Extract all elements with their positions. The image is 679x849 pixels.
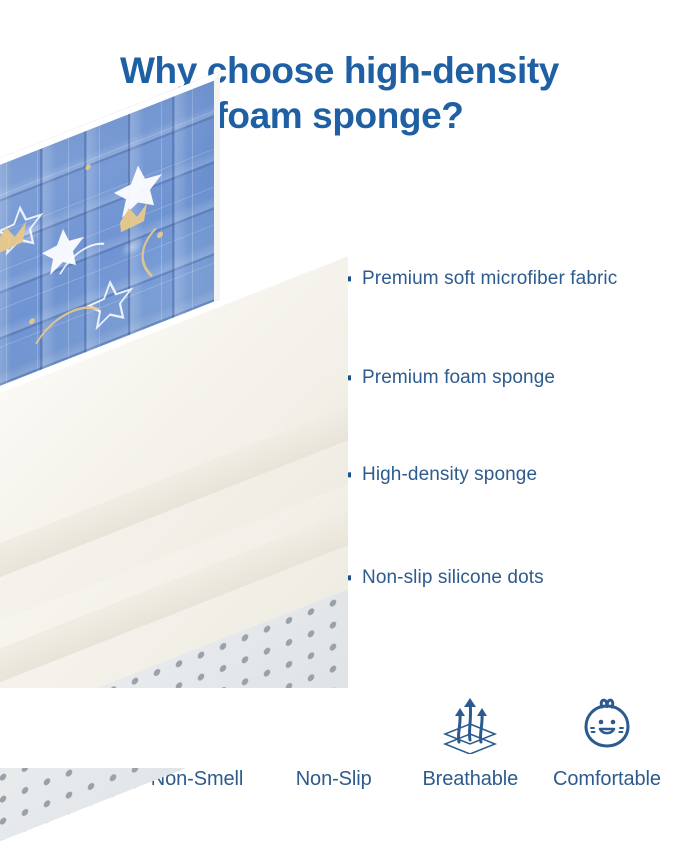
mattress-layer-stack	[0, 140, 368, 700]
page-title-line-1: Why choose high-density	[0, 48, 679, 93]
stack-bottom-mask	[0, 688, 368, 768]
layer-microfiber-fabric	[0, 140, 308, 390]
callout-label-0: Premium soft microfiber fabric	[362, 268, 617, 290]
product-infographic: Why choose high-density foam sponge?	[0, 0, 679, 849]
baby-face-icon	[578, 694, 636, 756]
callout-label-2: High-density sponge	[362, 464, 537, 486]
callout-label-1: Premium foam sponge	[362, 367, 555, 389]
airflow-layers-icon	[439, 694, 501, 756]
feature-breathable: Breathable	[405, 694, 535, 791]
callout-label-3: Non-slip silicone dots	[362, 567, 544, 589]
feature-label-comfortable: Comfortable	[553, 768, 661, 791]
feature-label-breathable: Breathable	[422, 768, 518, 791]
feature-comfortable: Comfortable	[542, 694, 672, 791]
